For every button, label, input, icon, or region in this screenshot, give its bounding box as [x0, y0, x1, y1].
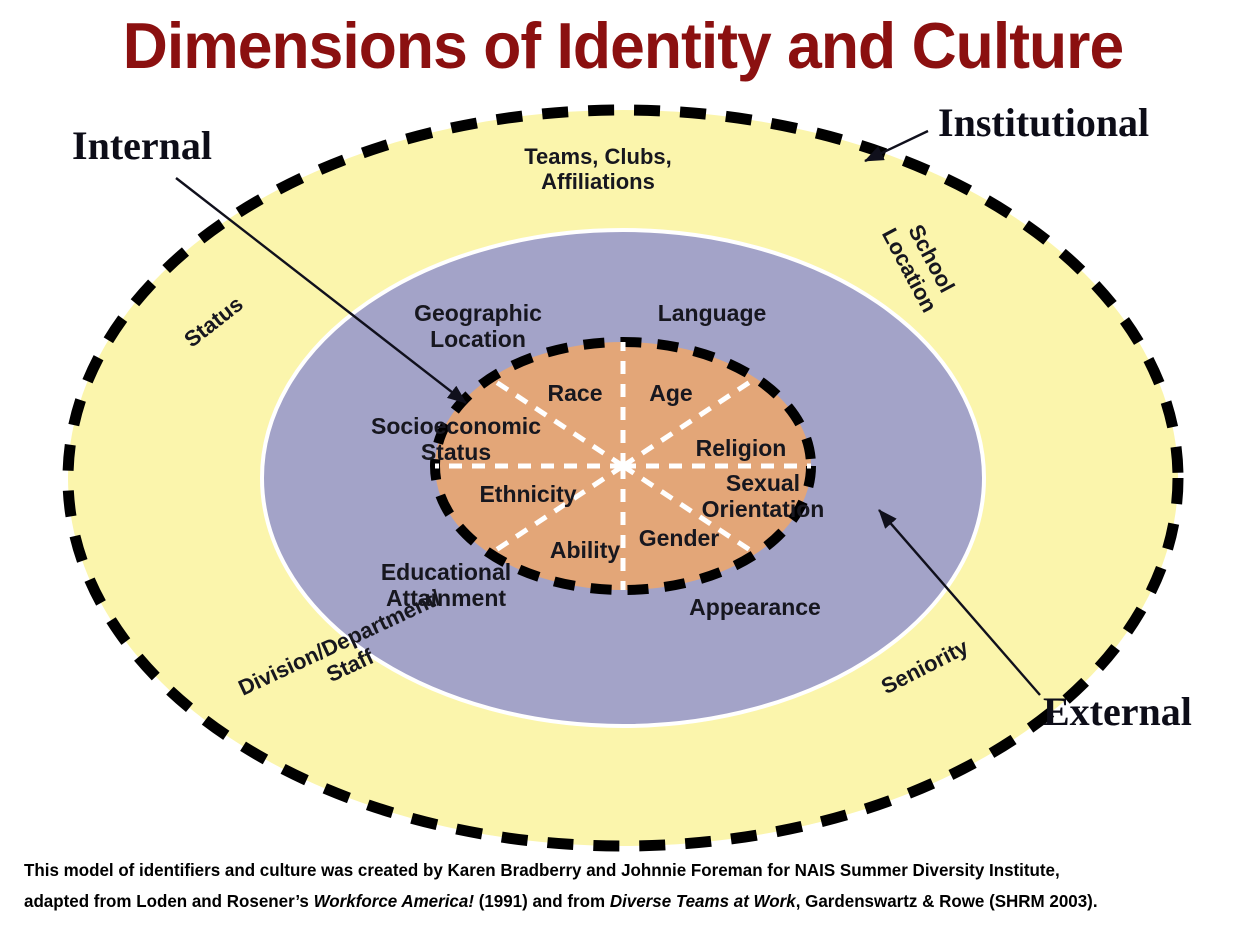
caption-line2-text-c: (1991) and from: [474, 891, 610, 911]
caption-italic-diverse-teams-at-work: Diverse Teams at Work: [610, 891, 796, 911]
pointer-label-internal: Internal: [72, 122, 212, 169]
pointer-label-institutional: Institutional: [938, 99, 1149, 146]
caption-italic-workforce-america: Workforce America!: [314, 891, 474, 911]
pointer-label-external: External: [1043, 688, 1192, 735]
caption-line1-text: This model of identifiers and culture wa…: [24, 860, 1060, 880]
caption-line-2: adapted from Loden and Rosener’s Workfor…: [24, 886, 1198, 917]
caption-line2-text-b: s: [299, 891, 313, 911]
caption-line2-text-a: adapted from Loden and Rosener: [24, 891, 295, 911]
slide-canvas: Dimensions of Identity and Culture: [0, 0, 1246, 930]
caption: This model of identifiers and culture wa…: [24, 855, 1198, 916]
caption-line2-text-d: , Gardenswartz & Rowe (SHRM 2003).: [796, 891, 1098, 911]
caption-line-1: This model of identifiers and culture wa…: [24, 855, 1198, 886]
